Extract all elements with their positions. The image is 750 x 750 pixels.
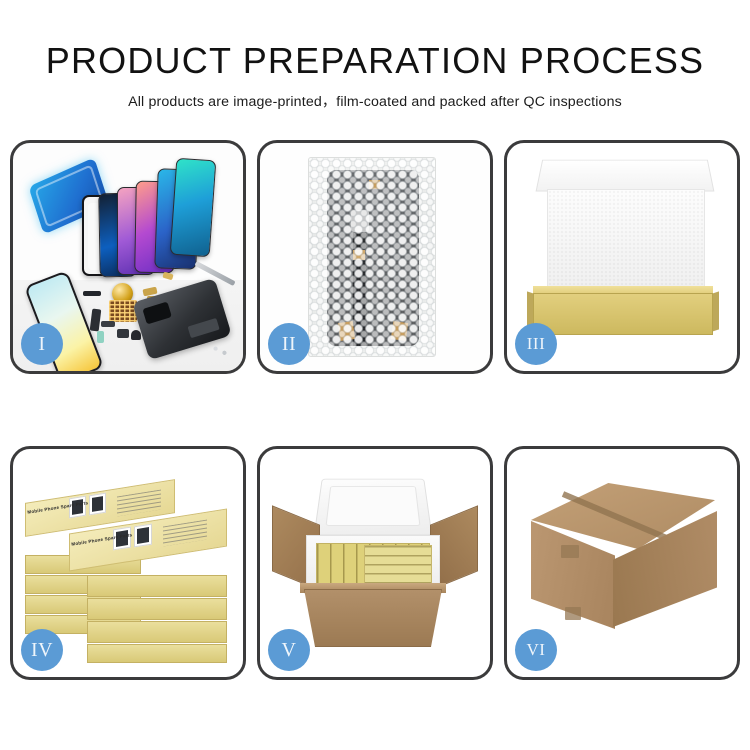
process-step-4: Mobile Phone Spare Parts Mobile Phone Sp… [10,446,246,680]
box-lid-flap [536,160,715,192]
process-step-6: VI [504,446,740,680]
stacked-box [87,575,227,597]
page-subtitle: All products are image-printed，film-coat… [0,91,750,111]
step-badge-2: II [268,323,310,365]
process-step-5: V [257,446,493,680]
foam-sheet [547,189,705,289]
bubble-texture-offset [309,158,435,356]
process-step-grid: I II [10,140,740,680]
foam-box-lid [314,479,433,536]
chip-grid-part [109,300,137,322]
step-badge-1: I [21,323,63,365]
page-title: PRODUCT PREPARATION PROCESS [0,40,750,82]
box-product-image [134,524,152,548]
stacked-box [87,644,227,663]
box-product-image [89,493,106,516]
step-badge-4: IV [21,629,63,671]
bubble-wrap-bag [308,157,436,357]
spare-part [97,331,104,343]
process-step-2: II [257,140,493,374]
spare-part [83,291,101,296]
process-step-1: I [10,140,246,374]
screws-icon [209,343,231,357]
spare-part [117,329,129,338]
carton-front [304,589,442,647]
kraft-box-front [533,293,713,335]
spare-part [101,321,115,327]
stacked-box [87,621,227,643]
carton-tape-mark [565,607,581,620]
header: PRODUCT PREPARATION PROCESS All products… [0,0,750,111]
stacked-box [87,598,227,620]
carton-tape-mark [561,545,579,558]
step-badge-5: V [268,629,310,671]
phone-teal [170,158,217,258]
process-step-3: III [504,140,740,374]
step-badge-3: III [515,323,557,365]
spare-part [131,330,141,340]
step-badge-6: VI [515,629,557,671]
product-preparation-infographic: PRODUCT PREPARATION PROCESS All products… [0,0,750,750]
